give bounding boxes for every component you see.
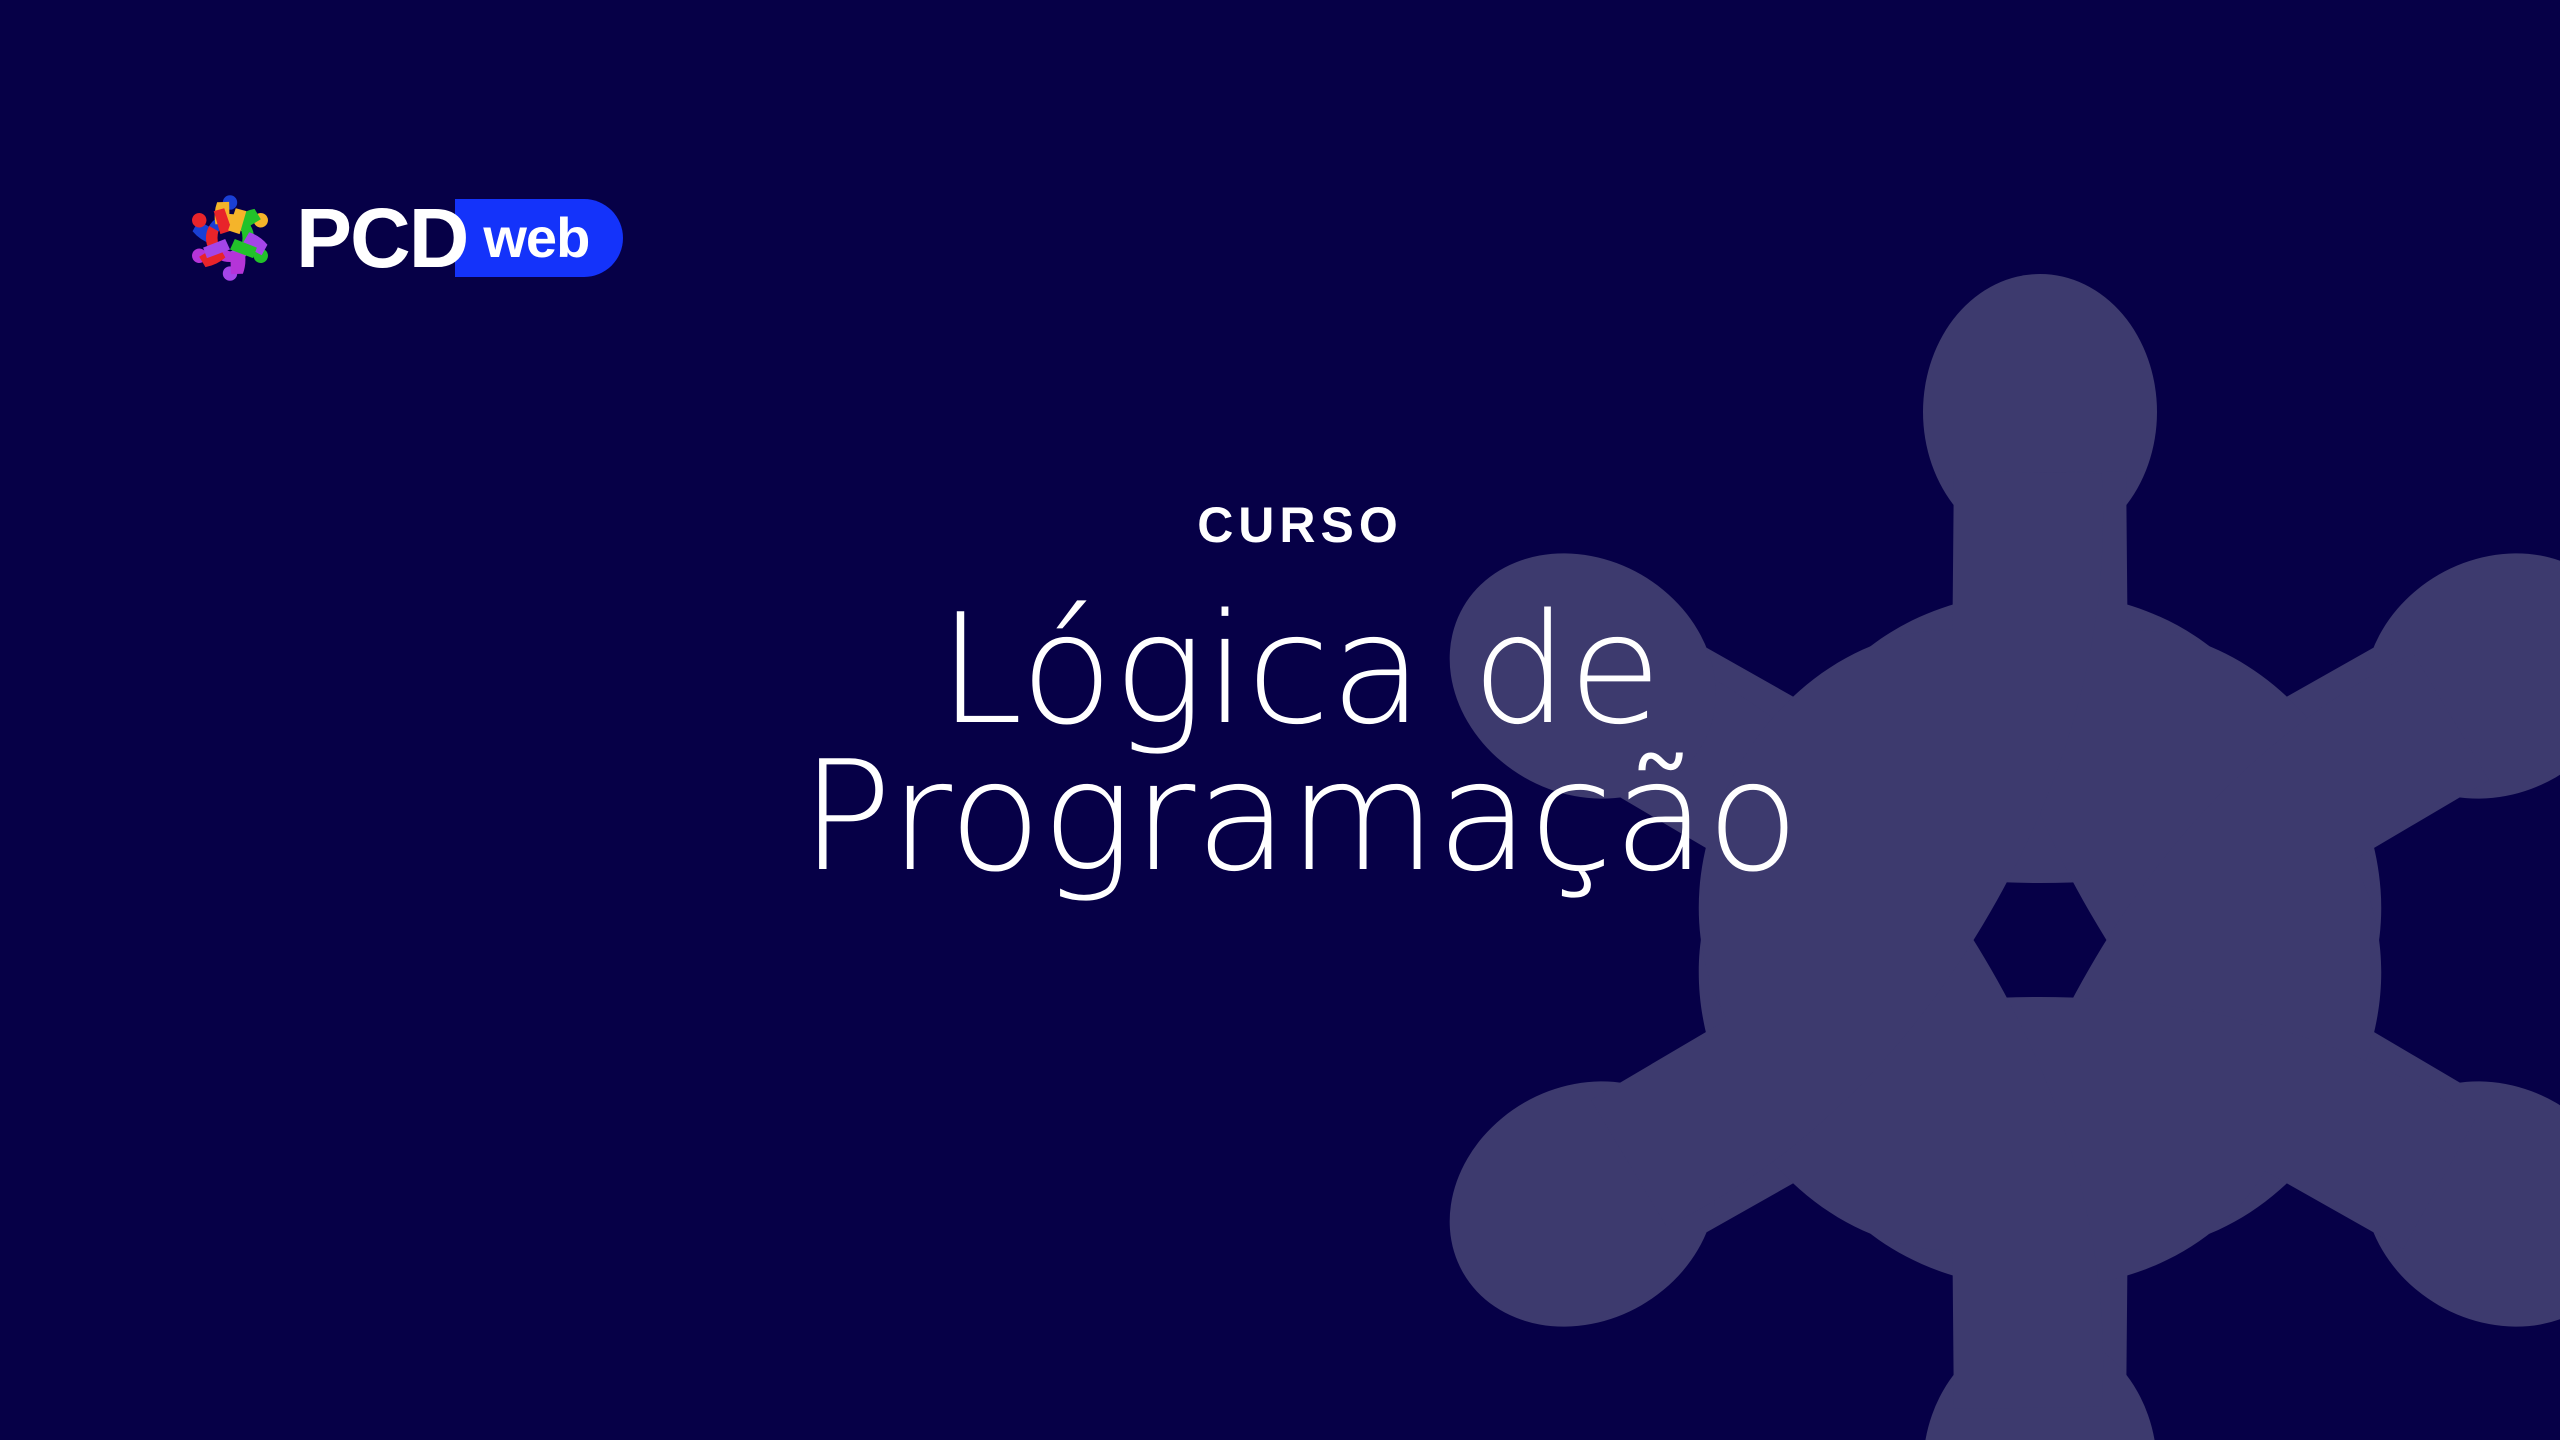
hero-text-block: CURSO Lógica de Programação (640, 500, 1960, 891)
pcdweb-circle-of-people-icon (182, 190, 278, 286)
brand-wordmark: PCD web (296, 186, 623, 290)
slide-canvas: PCD web CURSO Lógica de Programação (0, 0, 2560, 1440)
brand-logo[interactable]: PCD web (182, 186, 623, 290)
course-title: Lógica de Programação (640, 596, 1960, 891)
brand-web-pill: web (455, 199, 623, 277)
course-eyebrow-label: CURSO (640, 500, 1960, 550)
brand-name-pcd: PCD (296, 196, 469, 280)
brand-name-web: web (483, 210, 589, 266)
